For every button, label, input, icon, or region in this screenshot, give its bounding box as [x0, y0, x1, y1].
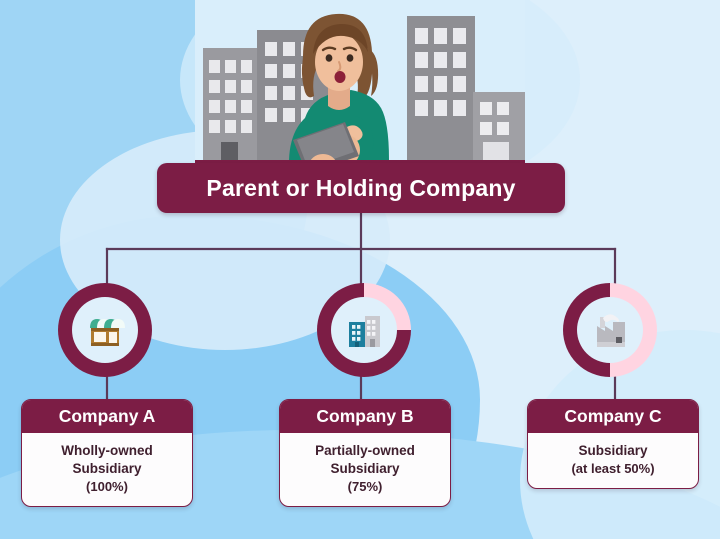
parent-company-label: Parent or Holding Company — [206, 175, 515, 202]
company-card-b-desc-line-1: Partially-owned — [286, 442, 444, 460]
infographic-canvas: Company A Wholly-owned Subsidiary (100%)… — [0, 0, 720, 539]
company-card-c-percent: (at least 50%) — [534, 460, 692, 477]
company-card-b-desc-line-2: Subsidiary — [286, 460, 444, 478]
ring-hole-a — [72, 297, 138, 363]
company-card-a-title: Company A — [22, 400, 192, 433]
company-card-b-title: Company B — [280, 400, 450, 433]
parent-company-box[interactable]: Parent or Holding Company — [157, 163, 565, 213]
hero-illustration — [195, 0, 525, 170]
ownership-ring-company-b — [317, 283, 411, 377]
company-card-a-body: Wholly-owned Subsidiary (100%) — [22, 433, 192, 506]
ownership-ring-company-c — [563, 283, 657, 377]
factory-icon — [589, 309, 631, 351]
company-card-a-percent: (100%) — [28, 478, 186, 495]
office-building-icon — [343, 309, 385, 351]
company-card-c-desc-line-1: Subsidiary — [534, 442, 692, 460]
ring-hole-c — [577, 297, 643, 363]
ring-hole-b — [331, 297, 397, 363]
company-card-a[interactable]: Company A Wholly-owned Subsidiary (100%) — [21, 399, 193, 507]
building-right — [407, 16, 475, 160]
company-card-b-body: Partially-owned Subsidiary (75%) — [280, 433, 450, 506]
building-left — [203, 48, 261, 160]
company-card-a-desc-line-2: Subsidiary — [28, 460, 186, 478]
ownership-ring-company-a — [58, 283, 152, 377]
company-card-c[interactable]: Company C Subsidiary (at least 50%) — [527, 399, 699, 489]
company-card-a-desc-line-1: Wholly-owned — [28, 442, 186, 460]
storefront-icon — [84, 309, 126, 351]
company-card-c-title: Company C — [528, 400, 698, 433]
company-card-b-percent: (75%) — [286, 478, 444, 495]
company-card-c-body: Subsidiary (at least 50%) — [528, 433, 698, 488]
company-card-b[interactable]: Company B Partially-owned Subsidiary (75… — [279, 399, 451, 507]
building-far-right — [473, 92, 525, 160]
